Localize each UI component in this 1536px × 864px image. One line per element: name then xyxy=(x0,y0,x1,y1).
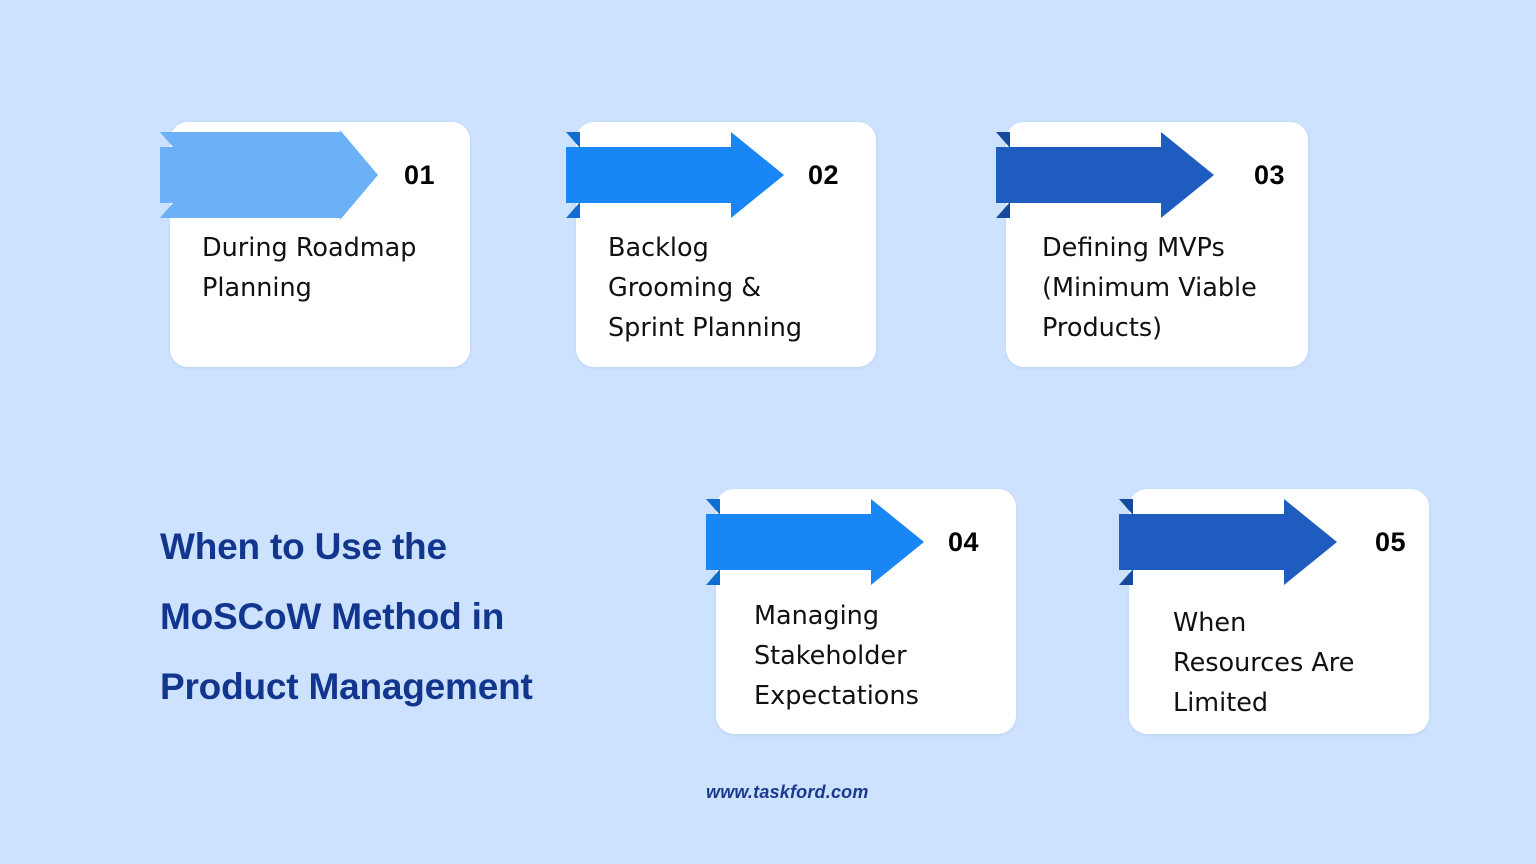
card-text-03: Defining MVPs (Minimum Viable Products) xyxy=(1042,228,1312,348)
card-number-01: 01 xyxy=(404,162,435,189)
footer-website-url: www.taskford.com xyxy=(706,782,869,803)
card-number-03: 03 xyxy=(1254,162,1285,189)
card-text-05: When Resources Are Limited xyxy=(1173,603,1435,723)
card-number-04: 04 xyxy=(948,529,979,556)
page-title: When to Use the MoSCoW Method in Product… xyxy=(160,512,700,722)
card-text-02: Backlog Grooming & Sprint Planning xyxy=(608,228,870,348)
infographic-canvas: 01 During Roadmap Planning 02 Backlog Gr… xyxy=(0,0,1536,864)
card-number-02: 02 xyxy=(808,162,839,189)
card-text-04: Managing Stakeholder Expectations xyxy=(754,596,1016,716)
card-number-05: 05 xyxy=(1375,529,1406,556)
card-text-01: During Roadmap Planning xyxy=(202,228,462,308)
